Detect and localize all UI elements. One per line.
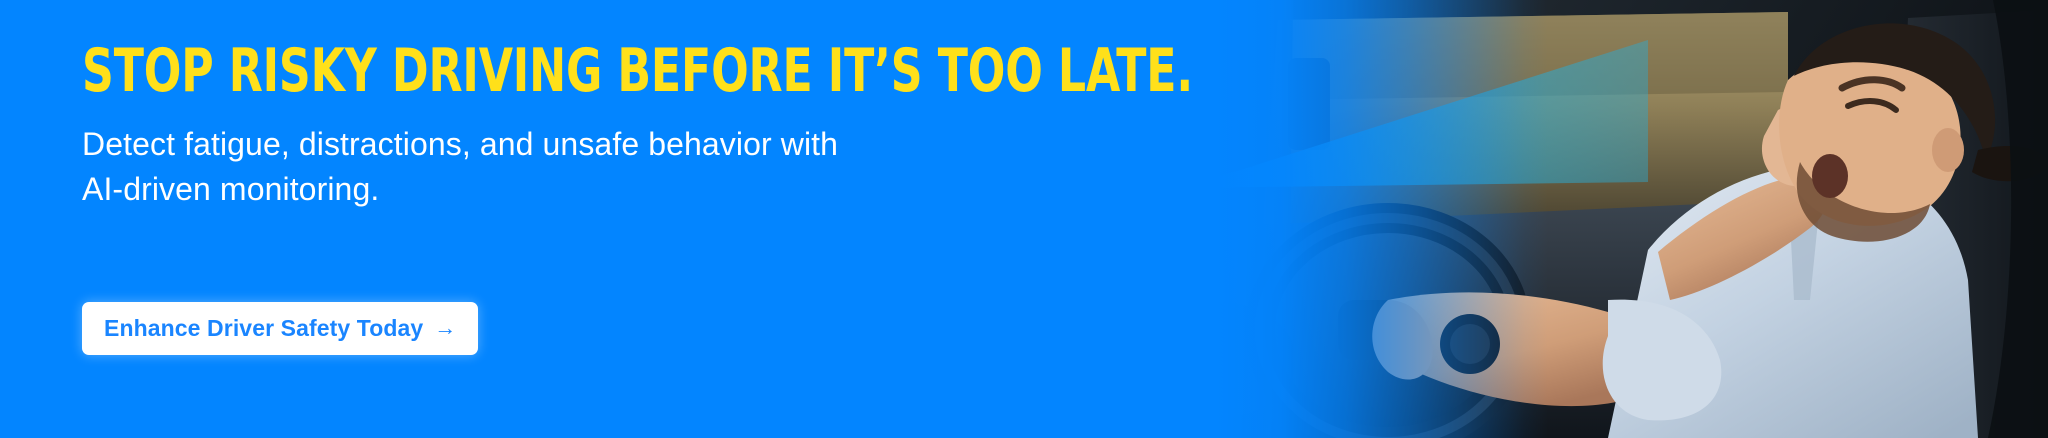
driver-ear <box>1932 128 1964 172</box>
cta-label: Enhance Driver Safety Today <box>104 315 423 342</box>
subheadline-line-2: AI-driven monitoring. <box>82 167 838 212</box>
driver-photo <box>1088 0 2048 438</box>
arrow-right-icon: → <box>434 317 456 339</box>
banner-subheadline: Detect fatigue, distractions, and unsafe… <box>82 122 838 212</box>
driver-photo-illustration <box>1088 0 2048 438</box>
enhance-driver-safety-cta-button[interactable]: Enhance Driver Safety Today → <box>82 302 478 355</box>
subheadline-line-1: Detect fatigue, distractions, and unsafe… <box>82 122 838 167</box>
driver-mouth <box>1812 154 1848 198</box>
banner-headline: STOP RISKY DRIVING BEFORE IT’S TOO LATE. <box>82 40 1193 102</box>
wrist-watch <box>1440 314 1500 374</box>
pillar-switch-panel <box>1288 58 1330 150</box>
driver-safety-banner-ad: STOP RISKY DRIVING BEFORE IT’S TOO LATE.… <box>0 0 2048 438</box>
banner-content: STOP RISKY DRIVING BEFORE IT’S TOO LATE.… <box>82 0 1182 438</box>
